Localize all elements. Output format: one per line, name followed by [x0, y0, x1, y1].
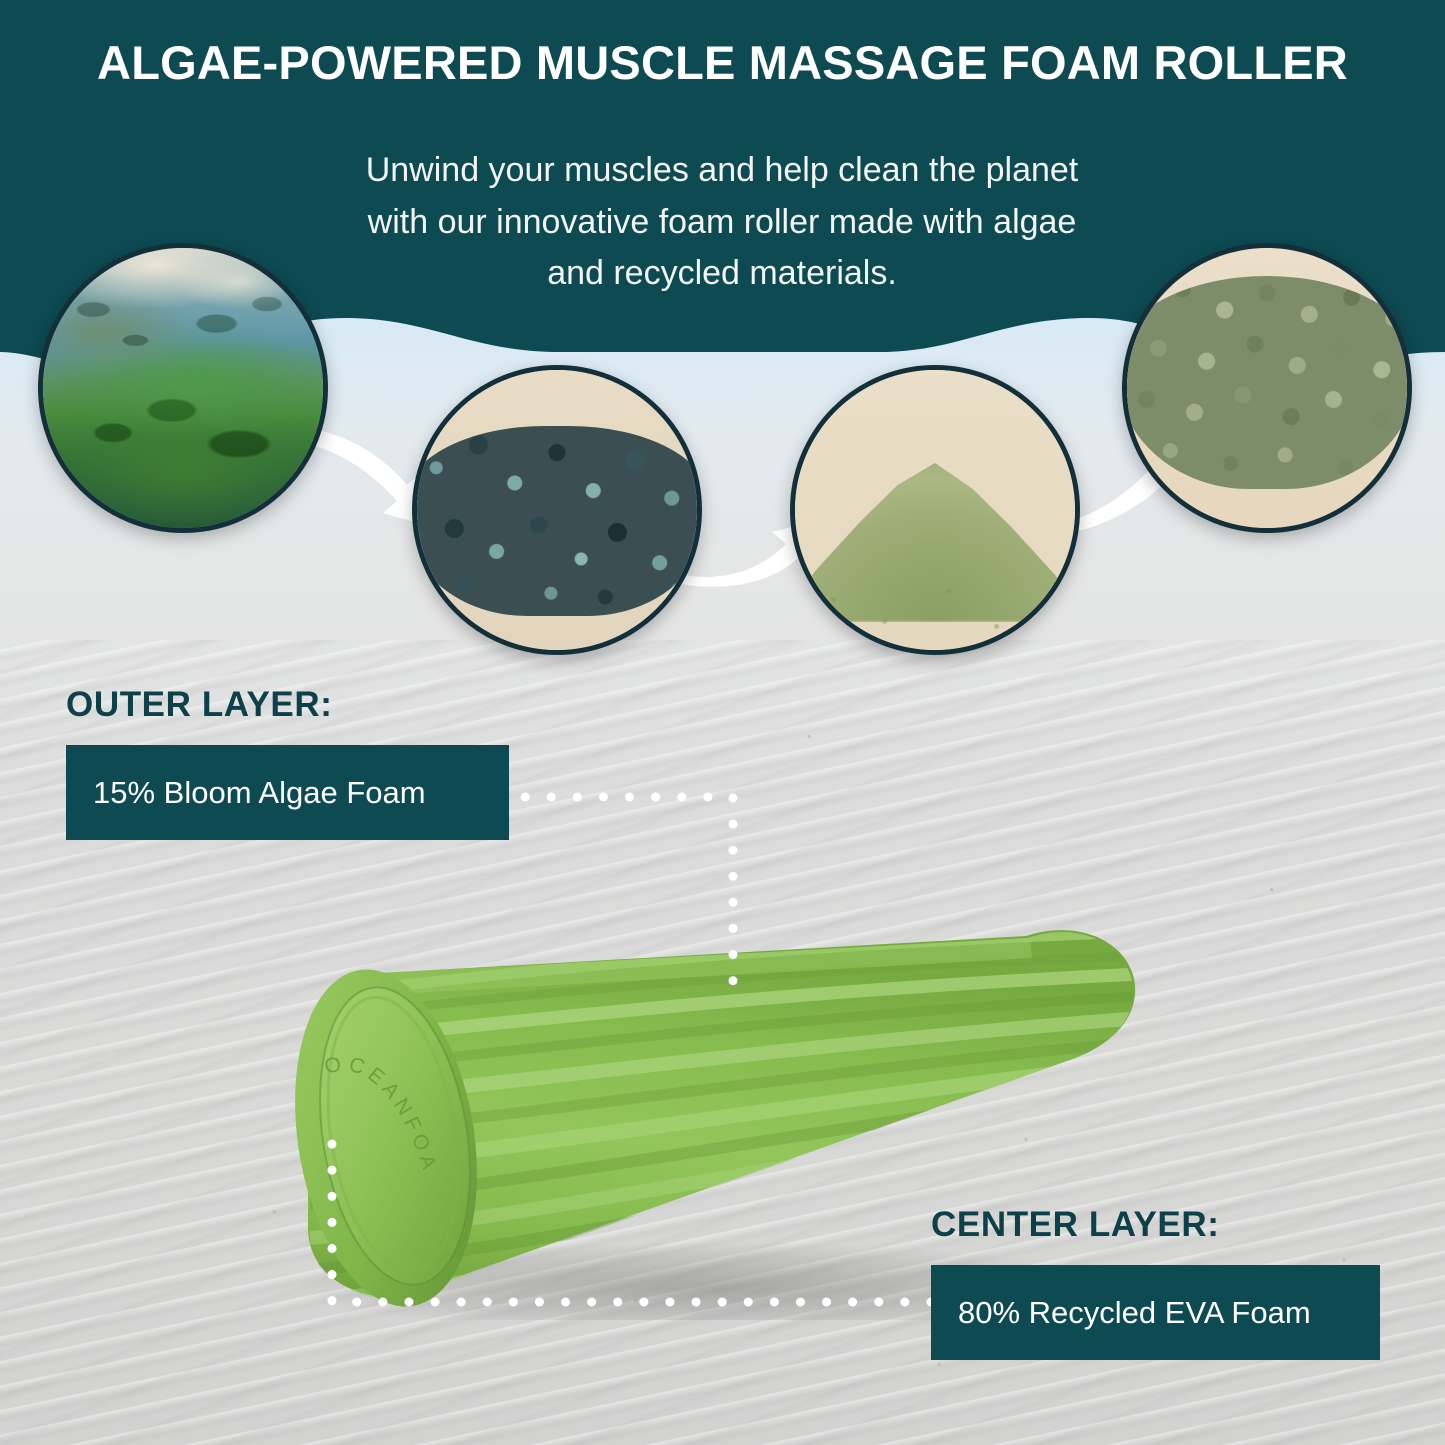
outer-layer-heading: OUTER LAYER:	[66, 685, 333, 725]
center-layer-leader-line	[320, 1140, 940, 1350]
page-title: ALGAE-POWERED MUSCLE MASSAGE FOAM ROLLER	[0, 38, 1445, 87]
page-subtitle: Unwind your muscles and help clean the p…	[222, 145, 1222, 300]
process-step-4-image	[1122, 243, 1412, 533]
subtitle-line-1: Unwind your muscles and help clean the p…	[222, 145, 1222, 197]
outer-layer-value-box: 15% Bloom Algae Foam	[66, 745, 509, 840]
outer-layer-leader-line	[495, 775, 775, 1005]
process-step-1-image	[38, 243, 328, 533]
center-layer-heading: CENTER LAYER:	[931, 1205, 1219, 1245]
process-step-2-image	[412, 365, 702, 655]
center-layer-value-box: 80% Recycled EVA Foam	[931, 1265, 1380, 1360]
infographic-canvas: ALGAE-POWERED MUSCLE MASSAGE FOAM ROLLER…	[0, 0, 1445, 1445]
center-layer-value: 80% Recycled EVA Foam	[958, 1295, 1311, 1331]
subtitle-line-3: and recycled materials.	[222, 248, 1222, 300]
subtitle-line-2: with our innovative foam roller made wit…	[222, 197, 1222, 249]
outer-layer-value: 15% Bloom Algae Foam	[93, 775, 426, 811]
process-step-3-image	[790, 365, 1080, 655]
